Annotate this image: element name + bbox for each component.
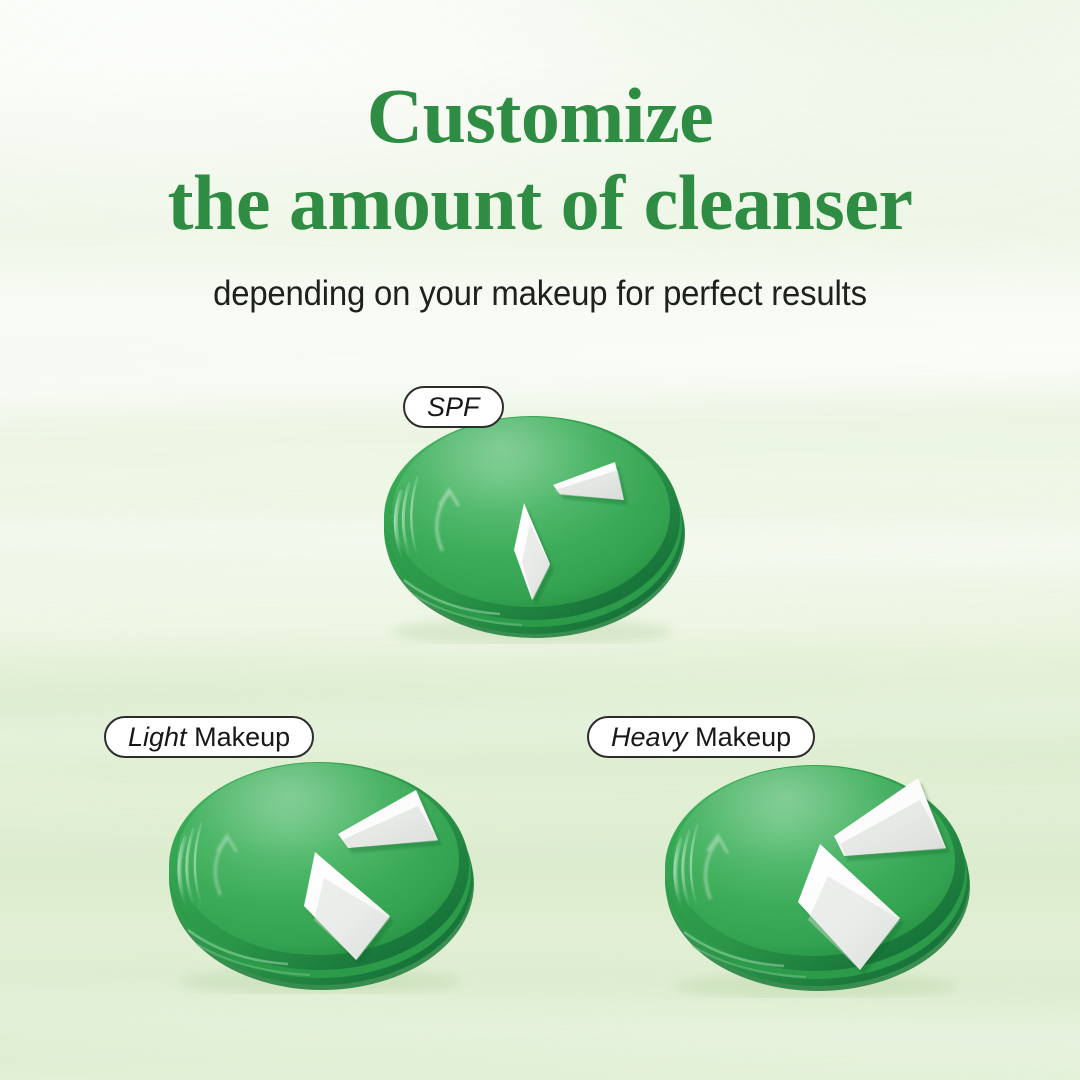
promo-graphic: Customize the amount of cleanser dependi… xyxy=(0,0,1080,1080)
label-heavy-rest: Makeup xyxy=(695,722,791,753)
jar-heavy-makeup-illustration xyxy=(648,748,988,998)
label-spf: SPF xyxy=(403,386,504,428)
label-heavy-makeup: Heavy Makeup xyxy=(587,716,815,758)
label-light-rest: Makeup xyxy=(194,722,290,753)
jar-light-makeup-illustration xyxy=(152,744,492,994)
jar-heavy-makeup[interactable] xyxy=(648,748,988,998)
page-subtitle: depending on your makeup for perfect res… xyxy=(32,274,1047,314)
jar-spf[interactable] xyxy=(372,404,702,644)
label-light-makeup: Light Makeup xyxy=(104,716,314,758)
label-heavy-emphasis: Heavy xyxy=(611,722,688,753)
jar-light-makeup[interactable] xyxy=(152,744,492,994)
label-light-emphasis: Light xyxy=(128,722,187,753)
label-spf-emphasis: SPF xyxy=(427,392,480,423)
jar-spf-illustration xyxy=(372,404,702,644)
page-title: Customize the amount of cleanser xyxy=(0,72,1080,247)
